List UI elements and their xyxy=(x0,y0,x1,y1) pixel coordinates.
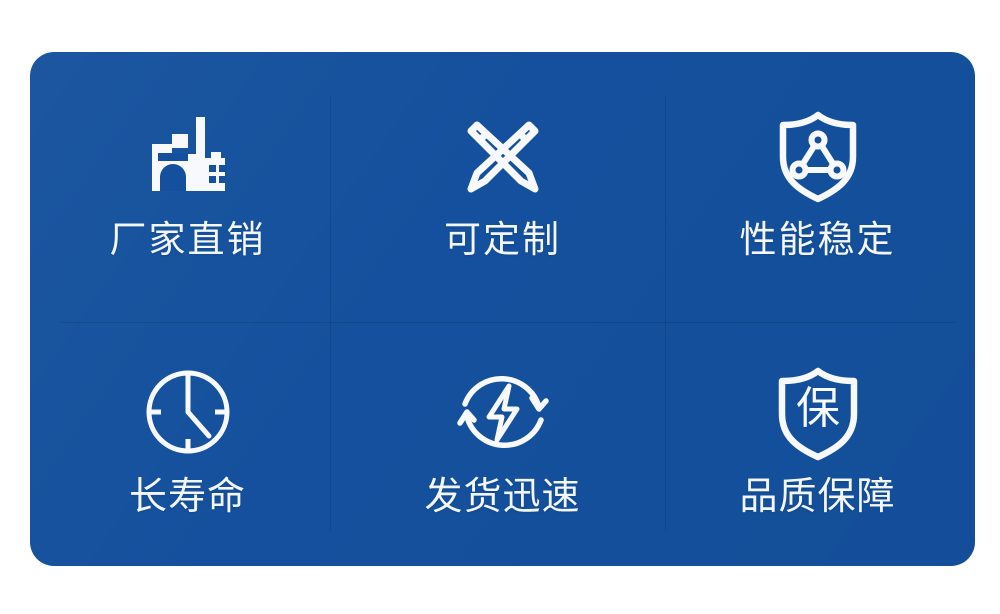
feature-label: 长寿命 xyxy=(129,478,246,516)
feature-label: 品质保障 xyxy=(739,478,895,516)
shield-nodes-icon xyxy=(766,103,870,207)
crossed-pencils-icon xyxy=(451,103,555,207)
feature-cell-long-lifespan[interactable]: 长寿命 xyxy=(30,309,345,566)
feature-label: 可定制 xyxy=(444,221,561,258)
feature-grid: 厂家直销 可定制 xyxy=(30,52,975,566)
feature-label: 发货迅速 xyxy=(424,478,580,516)
feature-cell-quality-assurance[interactable]: 保 品质保障 xyxy=(660,309,975,566)
factory-icon xyxy=(136,103,240,207)
page-root: 厂家直销 可定制 xyxy=(0,0,1000,614)
lightning-refresh-icon xyxy=(451,360,555,464)
feature-panel: 厂家直销 可定制 xyxy=(30,52,975,566)
feature-label: 性能稳定 xyxy=(740,221,896,258)
feature-cell-factory-direct-sales[interactable]: 厂家直销 xyxy=(30,52,345,309)
feature-cell-customizable[interactable]: 可定制 xyxy=(345,52,660,309)
feature-label: 厂家直销 xyxy=(110,221,266,258)
clock-icon xyxy=(136,360,240,464)
feature-cell-stable-performance[interactable]: 性能稳定 xyxy=(660,52,975,309)
shield-bao-icon: 保 xyxy=(766,360,870,464)
shield-glyph: 保 xyxy=(796,383,840,434)
feature-cell-fast-shipping[interactable]: 发货迅速 xyxy=(345,309,660,566)
